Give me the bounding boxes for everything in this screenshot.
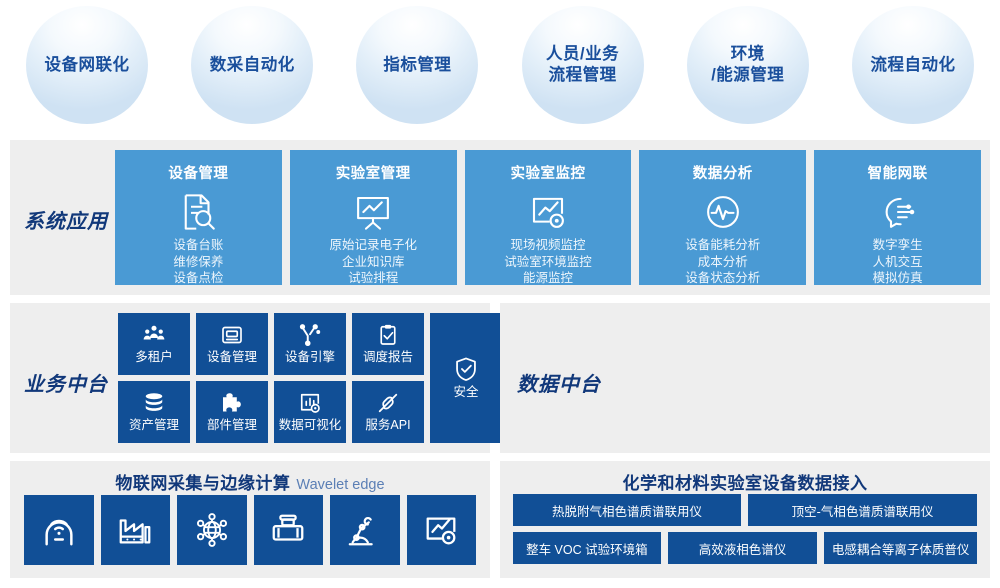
sys-card-device-management[interactable]: 设备管理 设备台账维修保养设备点检 bbox=[115, 150, 282, 285]
tile-label: 部件管理 bbox=[207, 418, 257, 433]
biz-column-2: 设备引擎 数据可视化 bbox=[274, 313, 346, 443]
bubble-label: 设备网联化 bbox=[45, 55, 130, 76]
chart-view-icon bbox=[298, 391, 322, 415]
tile-label: 资产管理 bbox=[129, 418, 179, 433]
card-subtitle: 数字孪生人机交互模拟仿真 bbox=[873, 237, 923, 287]
capability-bubble-row: 设备网联化 数采自动化 指标管理 人员/业务流程管理 环境/能源管理 流程自动化 bbox=[0, 0, 1000, 130]
sys-card-lab-management[interactable]: 实验室管理 原始记录电子化企业知识库试验排程 bbox=[290, 150, 457, 285]
card-title: 设备管理 bbox=[168, 162, 228, 183]
card-title: 实验室监控 bbox=[510, 162, 585, 183]
system-application-cards: 设备管理 设备台账维修保养设备点检 实验室管理 bbox=[115, 150, 981, 285]
biz-column-safety: 安全 bbox=[430, 313, 502, 443]
database-stack-icon bbox=[142, 391, 166, 415]
iot-tile-network[interactable] bbox=[177, 495, 247, 565]
iot-section-title: 物联网采集与边缘计算Wavelet edge bbox=[10, 461, 490, 494]
lab-equipment-panel: 化学和材料实验室设备数据接入 热脱附气相色谱质谱联用仪 顶空-气相色谱质谱联用仪… bbox=[500, 461, 990, 578]
tile-label: 设备引擎 bbox=[285, 350, 335, 365]
clipboard-check-icon bbox=[376, 323, 400, 347]
bubble-1[interactable]: 数采自动化 bbox=[191, 6, 313, 124]
shield-check-icon bbox=[453, 356, 479, 382]
lab-row-2: 整车 VOC 试验环境箱 高效液相色谱仪 电感耦合等离子体质普仪 bbox=[513, 532, 977, 564]
sys-card-data-analysis[interactable]: 数据分析 设备能耗分析成本分析设备状态分析 bbox=[639, 150, 806, 285]
iot-tile-monitoring[interactable] bbox=[407, 495, 477, 565]
iot-tile-sensor-device[interactable] bbox=[254, 495, 324, 565]
lab-row-1: 热脱附气相色谱质谱联用仪 顶空-气相色谱质谱联用仪 bbox=[513, 494, 977, 526]
tile-label: 多租户 bbox=[135, 350, 173, 365]
system-application-panel: 设备管理 设备台账维修保养设备点检 实验室管理 bbox=[10, 140, 990, 295]
lab-box-voc-chamber[interactable]: 整车 VOC 试验环境箱 bbox=[513, 532, 661, 564]
iot-edge-panel: 物联网采集与边缘计算Wavelet edge bbox=[10, 461, 490, 578]
bubble-0[interactable]: 设备网联化 bbox=[26, 6, 148, 124]
biz-tile-multi-tenant[interactable]: 多租户 bbox=[118, 313, 190, 375]
architecture-diagram: 设备网联化 数采自动化 指标管理 人员/业务流程管理 环境/能源管理 流程自动化… bbox=[0, 0, 1000, 588]
card-subtitle: 设备能耗分析成本分析设备状态分析 bbox=[685, 237, 760, 287]
iot-subtitle-text: Wavelet edge bbox=[296, 477, 384, 493]
tile-label: 调度报告 bbox=[363, 350, 413, 365]
tile-label: 设备管理 bbox=[207, 350, 257, 365]
lab-equipment-rows: 热脱附气相色谱质谱联用仪 顶空-气相色谱质谱联用仪 整车 VOC 试验环境箱 高… bbox=[513, 494, 977, 570]
bubble-2[interactable]: 指标管理 bbox=[356, 6, 478, 124]
iot-title-text: 物联网采集与边缘计算 bbox=[115, 474, 290, 493]
monitor-chart-icon bbox=[527, 191, 569, 233]
card-title: 实验室管理 bbox=[336, 162, 411, 183]
lab-section-title: 化学和材料实验室设备数据接入 bbox=[500, 461, 990, 494]
biz-tile-safety[interactable]: 安全 bbox=[430, 313, 502, 443]
lab-box-icp-ms[interactable]: 电感耦合等离子体质普仪 bbox=[824, 532, 977, 564]
iot-tile-gateway[interactable] bbox=[24, 495, 94, 565]
biz-tile-device-engine[interactable]: 设备引擎 bbox=[274, 313, 346, 375]
card-subtitle: 设备台账维修保养设备点检 bbox=[173, 237, 223, 287]
pulse-circle-icon bbox=[702, 191, 744, 233]
row-label-data-platform: 数据中台 bbox=[517, 368, 609, 397]
wifi-gateway-icon bbox=[40, 511, 78, 549]
tile-label: 安全 bbox=[453, 385, 478, 400]
biz-tile-component-management[interactable]: 部件管理 bbox=[196, 381, 268, 443]
biz-tile-service-api[interactable]: 服务API bbox=[352, 381, 424, 443]
node-graph-icon bbox=[298, 323, 322, 347]
bubble-label: 流程自动化 bbox=[870, 55, 955, 76]
sys-card-lab-monitoring[interactable]: 实验室监控 现场视频监控试验室环境监控能源监控 bbox=[465, 150, 632, 285]
row-label-business-platform: 业务中台 bbox=[24, 368, 116, 397]
biz-tile-data-visualization[interactable]: 数据可视化 bbox=[274, 381, 346, 443]
plug-connect-icon bbox=[376, 391, 400, 415]
tile-label: 数据可视化 bbox=[279, 418, 342, 433]
device-box-icon bbox=[220, 323, 244, 347]
iot-tile-factory[interactable] bbox=[101, 495, 171, 565]
lab-box-hplc[interactable]: 高效液相色谱仪 bbox=[668, 532, 818, 564]
ai-head-icon bbox=[877, 191, 919, 233]
biz-tile-asset-management[interactable]: 资产管理 bbox=[118, 381, 190, 443]
card-title: 数据分析 bbox=[693, 162, 753, 183]
biz-tile-device-management[interactable]: 设备管理 bbox=[196, 313, 268, 375]
card-subtitle: 现场视频监控试验室环境监控能源监控 bbox=[504, 237, 592, 287]
bubble-label: 环境/能源管理 bbox=[711, 44, 784, 85]
bubble-label: 指标管理 bbox=[383, 55, 451, 76]
robot-arm-icon bbox=[346, 511, 384, 549]
monitor-chart-icon bbox=[422, 511, 460, 549]
bubble-label: 人员/业务流程管理 bbox=[546, 44, 619, 85]
sensor-device-icon bbox=[269, 511, 307, 549]
factory-icon bbox=[116, 511, 154, 549]
sys-card-intelligent-network[interactable]: 智能网联 数字孪生人机交互模拟仿真 bbox=[814, 150, 981, 285]
puzzle-icon bbox=[220, 391, 244, 415]
bubble-5[interactable]: 流程自动化 bbox=[852, 6, 974, 124]
business-platform-grid: 多租户 资产管理 bbox=[118, 313, 502, 443]
biz-column-1: 设备管理 部件管理 bbox=[196, 313, 268, 443]
card-subtitle: 原始记录电子化企业知识库试验排程 bbox=[329, 237, 417, 287]
bubble-4[interactable]: 环境/能源管理 bbox=[687, 6, 809, 124]
multi-tenant-icon bbox=[142, 323, 166, 347]
presentation-chart-icon bbox=[352, 191, 394, 233]
network-globe-icon bbox=[193, 511, 231, 549]
bubble-label: 数采自动化 bbox=[210, 55, 295, 76]
biz-column-0: 多租户 资产管理 bbox=[118, 313, 190, 443]
bubble-3[interactable]: 人员/业务流程管理 bbox=[522, 6, 644, 124]
iot-icon-row bbox=[24, 495, 476, 565]
iot-tile-robot-arm[interactable] bbox=[330, 495, 400, 565]
biz-column-3: 调度报告 服务API bbox=[352, 313, 424, 443]
document-search-icon bbox=[177, 191, 219, 233]
lab-box-td-gcms[interactable]: 热脱附气相色谱质谱联用仪 bbox=[513, 494, 741, 526]
lab-box-hs-gcms[interactable]: 顶空-气相色谱质谱联用仪 bbox=[748, 494, 977, 526]
row-label-system-application: 系统应用 bbox=[24, 205, 114, 234]
biz-tile-schedule-report[interactable]: 调度报告 bbox=[352, 313, 424, 375]
card-title: 智能网联 bbox=[868, 162, 928, 183]
tile-label: 服务API bbox=[365, 418, 410, 433]
